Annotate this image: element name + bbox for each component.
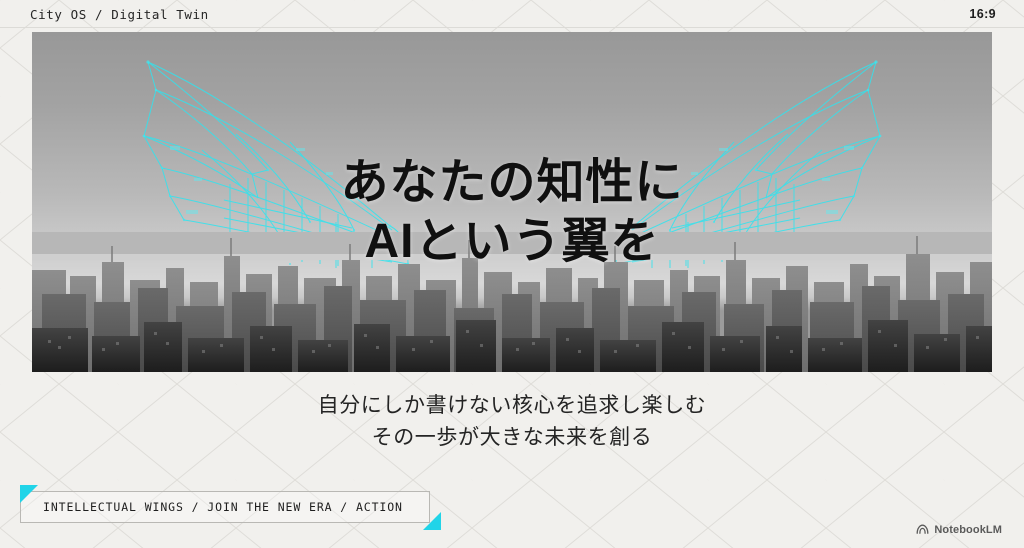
aspect-ratio-badge: 16:9 xyxy=(969,7,996,21)
hero-headline: あなたの知性に AIという翼を xyxy=(32,154,992,271)
notebooklm-watermark: NotebookLM xyxy=(916,523,1002,536)
corner-accent-top-left-icon xyxy=(20,485,38,503)
notebooklm-label: NotebookLM xyxy=(934,524,1002,536)
tagline-banner: INTELLECTUAL WINGS / JOIN THE NEW ERA / … xyxy=(20,491,430,523)
tagline-text: INTELLECTUAL WINGS / JOIN THE NEW ERA / … xyxy=(43,500,403,514)
headline-line-1: あなたの知性に xyxy=(32,154,992,213)
subtitle-line-2: その一歩が大きな未来を創る xyxy=(0,422,1024,454)
notebooklm-logo-icon xyxy=(916,523,929,536)
header-title: City OS / Digital Twin xyxy=(30,7,209,22)
slide-header: City OS / Digital Twin 16:9 xyxy=(0,0,1024,28)
subtitle-block: 自分にしか書けない核心を追求し楽しむ その一歩が大きな未来を創る xyxy=(0,390,1024,454)
hero-image: あなたの知性に AIという翼を xyxy=(32,32,992,372)
headline-line-2: AIという翼を xyxy=(32,213,992,272)
subtitle-line-1: 自分にしか書けない核心を追求し楽しむ xyxy=(0,390,1024,422)
corner-accent-bottom-right-icon xyxy=(423,512,441,530)
